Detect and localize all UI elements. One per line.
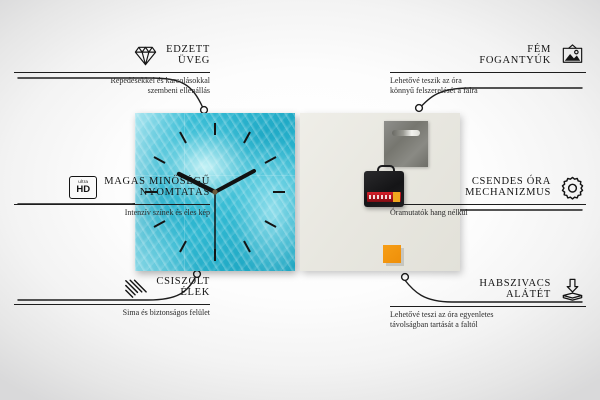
polished-edges-icon bbox=[121, 273, 149, 301]
picture-hanger-icon bbox=[558, 41, 586, 69]
metal-hanger-part bbox=[384, 121, 428, 167]
foam-pad-part bbox=[383, 245, 401, 263]
ultra-hd-badge-hd-text: HD bbox=[76, 185, 90, 195]
feature-tempered-glass: EDZETT ÜVEG Repedésekkel és karcolásokka… bbox=[14, 40, 210, 96]
clock-center-cap bbox=[212, 189, 217, 194]
feature-head: FÉM FOGANTYÚK bbox=[390, 40, 586, 70]
feature-divider bbox=[14, 304, 210, 305]
feature-head: HABSZIVACS ALÁTÉT bbox=[390, 274, 586, 304]
feature-description: Sima és biztonságos felület bbox=[14, 308, 210, 318]
feature-head: EDZETT ÜVEG bbox=[14, 40, 210, 70]
battery-label-stripes bbox=[369, 195, 391, 199]
feature-title: HABSZIVACS ALÁTÉT bbox=[479, 278, 551, 301]
feature-divider bbox=[390, 306, 586, 307]
feature-description: Lehetővé teszik az óra könnyű felszerelé… bbox=[390, 76, 586, 96]
feature-description: Repedésekkel és karcolásokkal szembeni e… bbox=[14, 76, 210, 96]
foam-pad-icon bbox=[558, 275, 586, 303]
feature-head: ultra HD MAGAS MINŐSÉGŰ NYOMTATÁS bbox=[14, 172, 210, 202]
feature-foam-pad: HABSZIVACS ALÁTÉT Lehetővé teszi az óra … bbox=[390, 274, 586, 330]
feature-head: CSENDES ÓRA MECHANIZMUS bbox=[390, 172, 586, 202]
ultra-hd-icon: ultra HD bbox=[69, 173, 97, 201]
feature-description: Intenzív színek és éles kép bbox=[14, 208, 210, 218]
feature-high-quality-print: ultra HD MAGAS MINŐSÉGŰ NYOMTATÁS Intenz… bbox=[14, 172, 210, 218]
feature-title: FÉM FOGANTYÚK bbox=[479, 44, 551, 67]
feature-description: Óramutatók hang nélkül bbox=[390, 208, 586, 218]
feature-divider bbox=[390, 204, 586, 205]
product-feature-infographic: EDZETT ÜVEG Repedésekkel és karcolásokka… bbox=[0, 0, 600, 400]
feature-metal-handles: FÉM FOGANTYÚK Lehetővé teszik az óra kön… bbox=[390, 40, 586, 96]
diamond-icon bbox=[131, 41, 159, 69]
connector-ring-metal-handles bbox=[416, 105, 423, 112]
feature-head: CSISZOLT ÉLEK bbox=[14, 272, 210, 302]
gear-icon bbox=[558, 173, 586, 201]
feature-title: CSISZOLT ÉLEK bbox=[156, 276, 210, 299]
clock-minute-hand bbox=[215, 171, 254, 192]
hanger-slot bbox=[392, 130, 420, 136]
feature-title: CSENDES ÓRA MECHANIZMUS bbox=[465, 176, 551, 199]
feature-divider bbox=[390, 72, 586, 73]
feature-divider bbox=[14, 204, 210, 205]
feature-divider bbox=[14, 72, 210, 73]
feature-title: EDZETT ÜVEG bbox=[166, 44, 210, 67]
feature-silent-mechanism: CSENDES ÓRA MECHANIZMUS Óramutatók hang … bbox=[390, 172, 586, 218]
ultra-hd-badge: ultra HD bbox=[69, 176, 97, 199]
feature-polished-edges: CSISZOLT ÉLEK Sima és biztonságos felüle… bbox=[14, 272, 210, 318]
feature-description: Lehetővé teszi az óra egyenletes távolsá… bbox=[390, 310, 586, 330]
feature-title: MAGAS MINŐSÉGŰ NYOMTATÁS bbox=[104, 176, 210, 199]
